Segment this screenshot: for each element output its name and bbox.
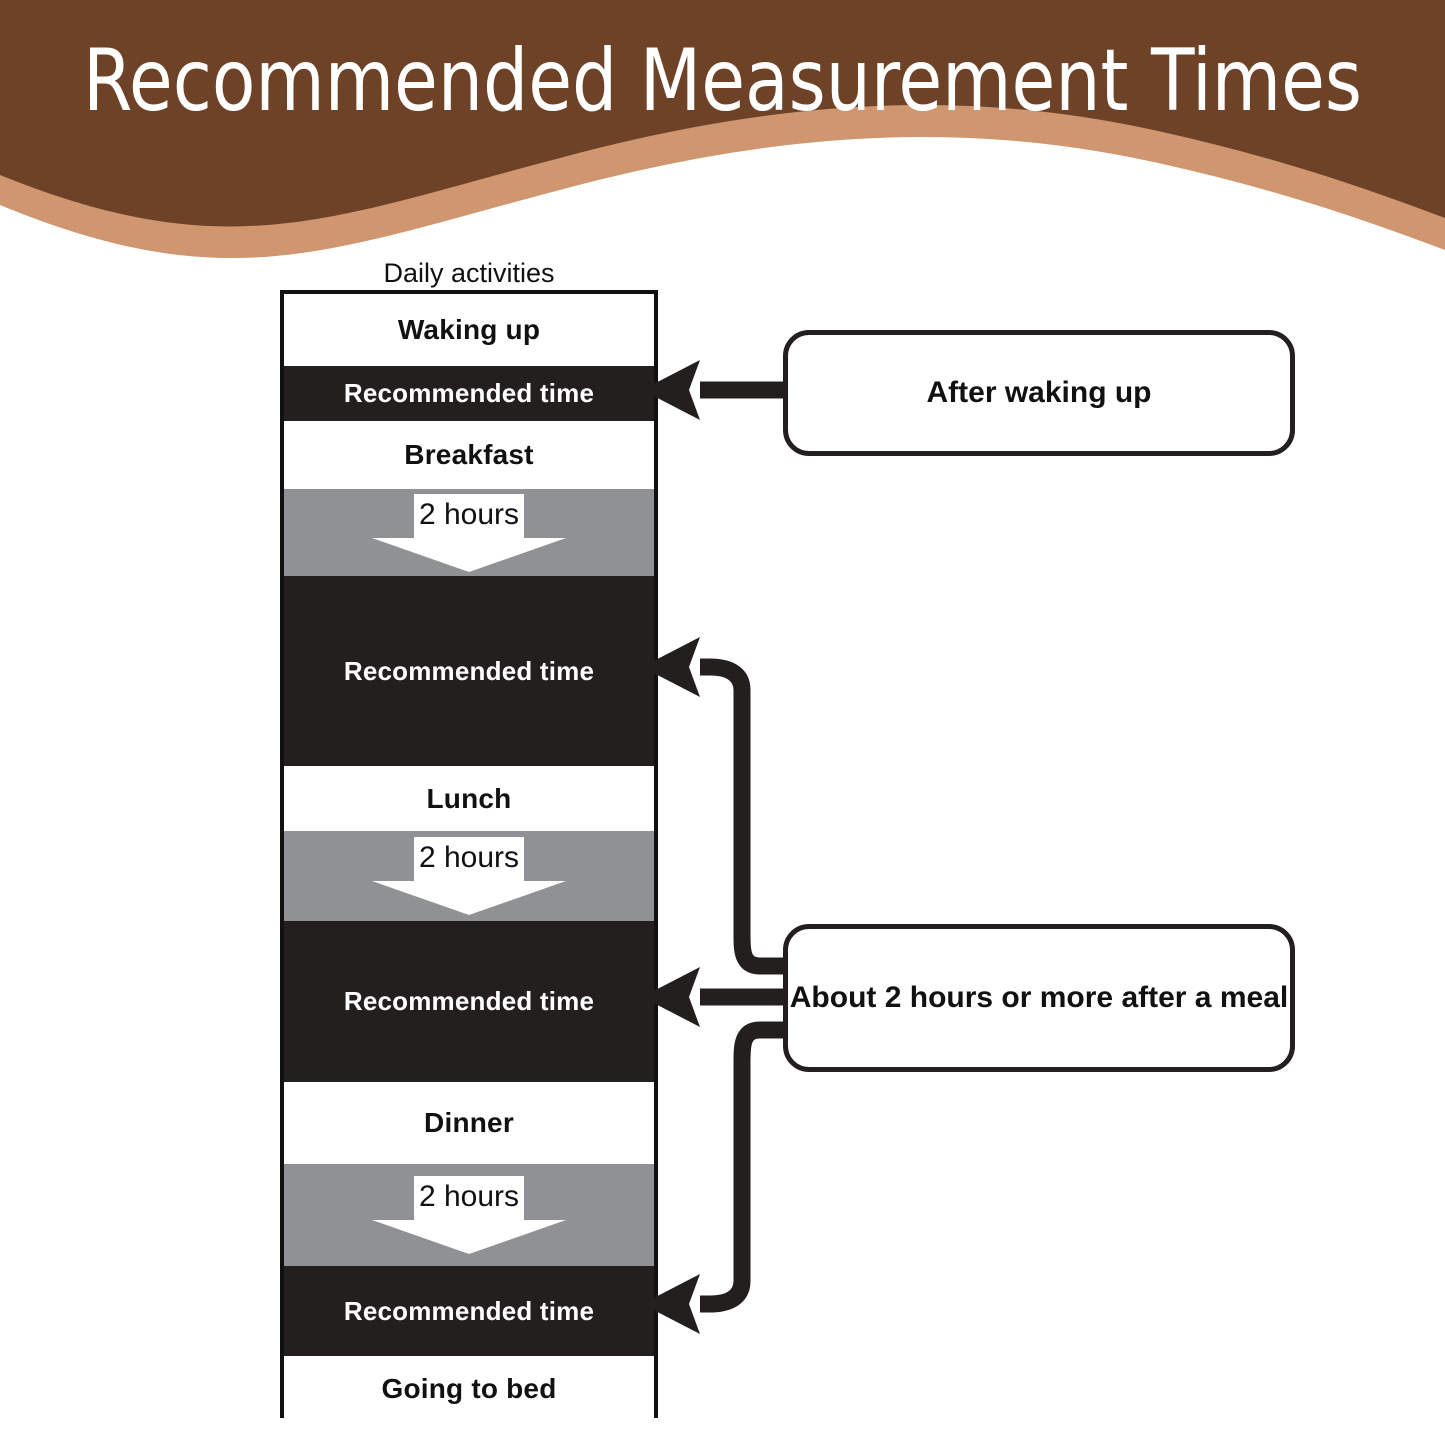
callout-after-a-meal[interactable]: About 2 hours or more after a meal: [783, 924, 1295, 1072]
band-recommended-time-4: Recommended time: [284, 1266, 654, 1356]
band-interval-after-dinner: 2 hours: [284, 1164, 654, 1266]
interval-label: 2 hours: [372, 494, 566, 572]
connector-after-meal-lower: [642, 1030, 783, 1334]
band-label: Waking up: [398, 314, 540, 346]
interval-label: 2 hours: [372, 837, 566, 915]
band-breakfast: Breakfast: [284, 421, 654, 489]
callout-connectors: [0, 0, 1445, 1445]
band-lunch: Lunch: [284, 766, 654, 831]
band-dinner: Dinner: [284, 1082, 654, 1164]
two-hours-down-arrow-icon: 2 hours: [372, 1176, 566, 1254]
band-label: Going to bed: [381, 1373, 556, 1405]
two-hours-down-arrow-icon: 2 hours: [372, 837, 566, 915]
daily-activities-column-header: Daily activities: [280, 258, 658, 289]
band-waking-up: Waking up: [284, 294, 654, 366]
measurement-timeline-diagram: Daily activities Waking up Recommended t…: [0, 0, 1445, 1445]
band-interval-after-breakfast: 2 hours: [284, 489, 654, 576]
band-label: Recommended time: [344, 1296, 594, 1327]
band-label: Recommended time: [344, 986, 594, 1017]
band-label: Breakfast: [404, 439, 533, 471]
band-label: Recommended time: [344, 378, 594, 409]
connector-after-meal-upper: [642, 637, 783, 966]
band-recommended-time-3: Recommended time: [284, 921, 654, 1082]
band-label: Lunch: [427, 783, 512, 815]
two-hours-down-arrow-icon: 2 hours: [372, 494, 566, 572]
band-recommended-time-2: Recommended time: [284, 576, 654, 766]
band-label: Dinner: [424, 1107, 514, 1139]
connector-after-meal-middle: [642, 967, 783, 1027]
interval-label: 2 hours: [372, 1176, 566, 1254]
band-interval-after-lunch: 2 hours: [284, 831, 654, 921]
band-recommended-time-1: Recommended time: [284, 366, 654, 421]
connector-after-waking-up: [642, 360, 783, 420]
callout-after-waking-up[interactable]: After waking up: [783, 330, 1295, 456]
daily-timeline: Waking up Recommended time Breakfast 2 h…: [280, 290, 658, 1418]
band-going-to-bed: Going to bed: [284, 1356, 654, 1422]
band-label: Recommended time: [344, 656, 594, 687]
